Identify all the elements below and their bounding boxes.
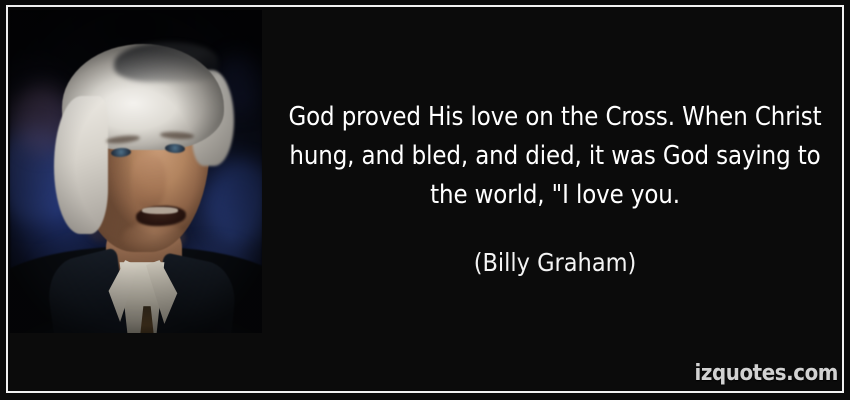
portrait-photo (10, 10, 262, 333)
quote-text: God proved His love on the Cross. When C… (272, 98, 838, 215)
site-watermark: izquotes.com (694, 361, 838, 386)
quote-body: God proved His love on the Cross. When C… (272, 98, 838, 278)
quote-author: (Billy Graham) (272, 215, 838, 278)
photo-vignette (10, 10, 262, 333)
quote-card: God proved His love on the Cross. When C… (0, 0, 850, 400)
